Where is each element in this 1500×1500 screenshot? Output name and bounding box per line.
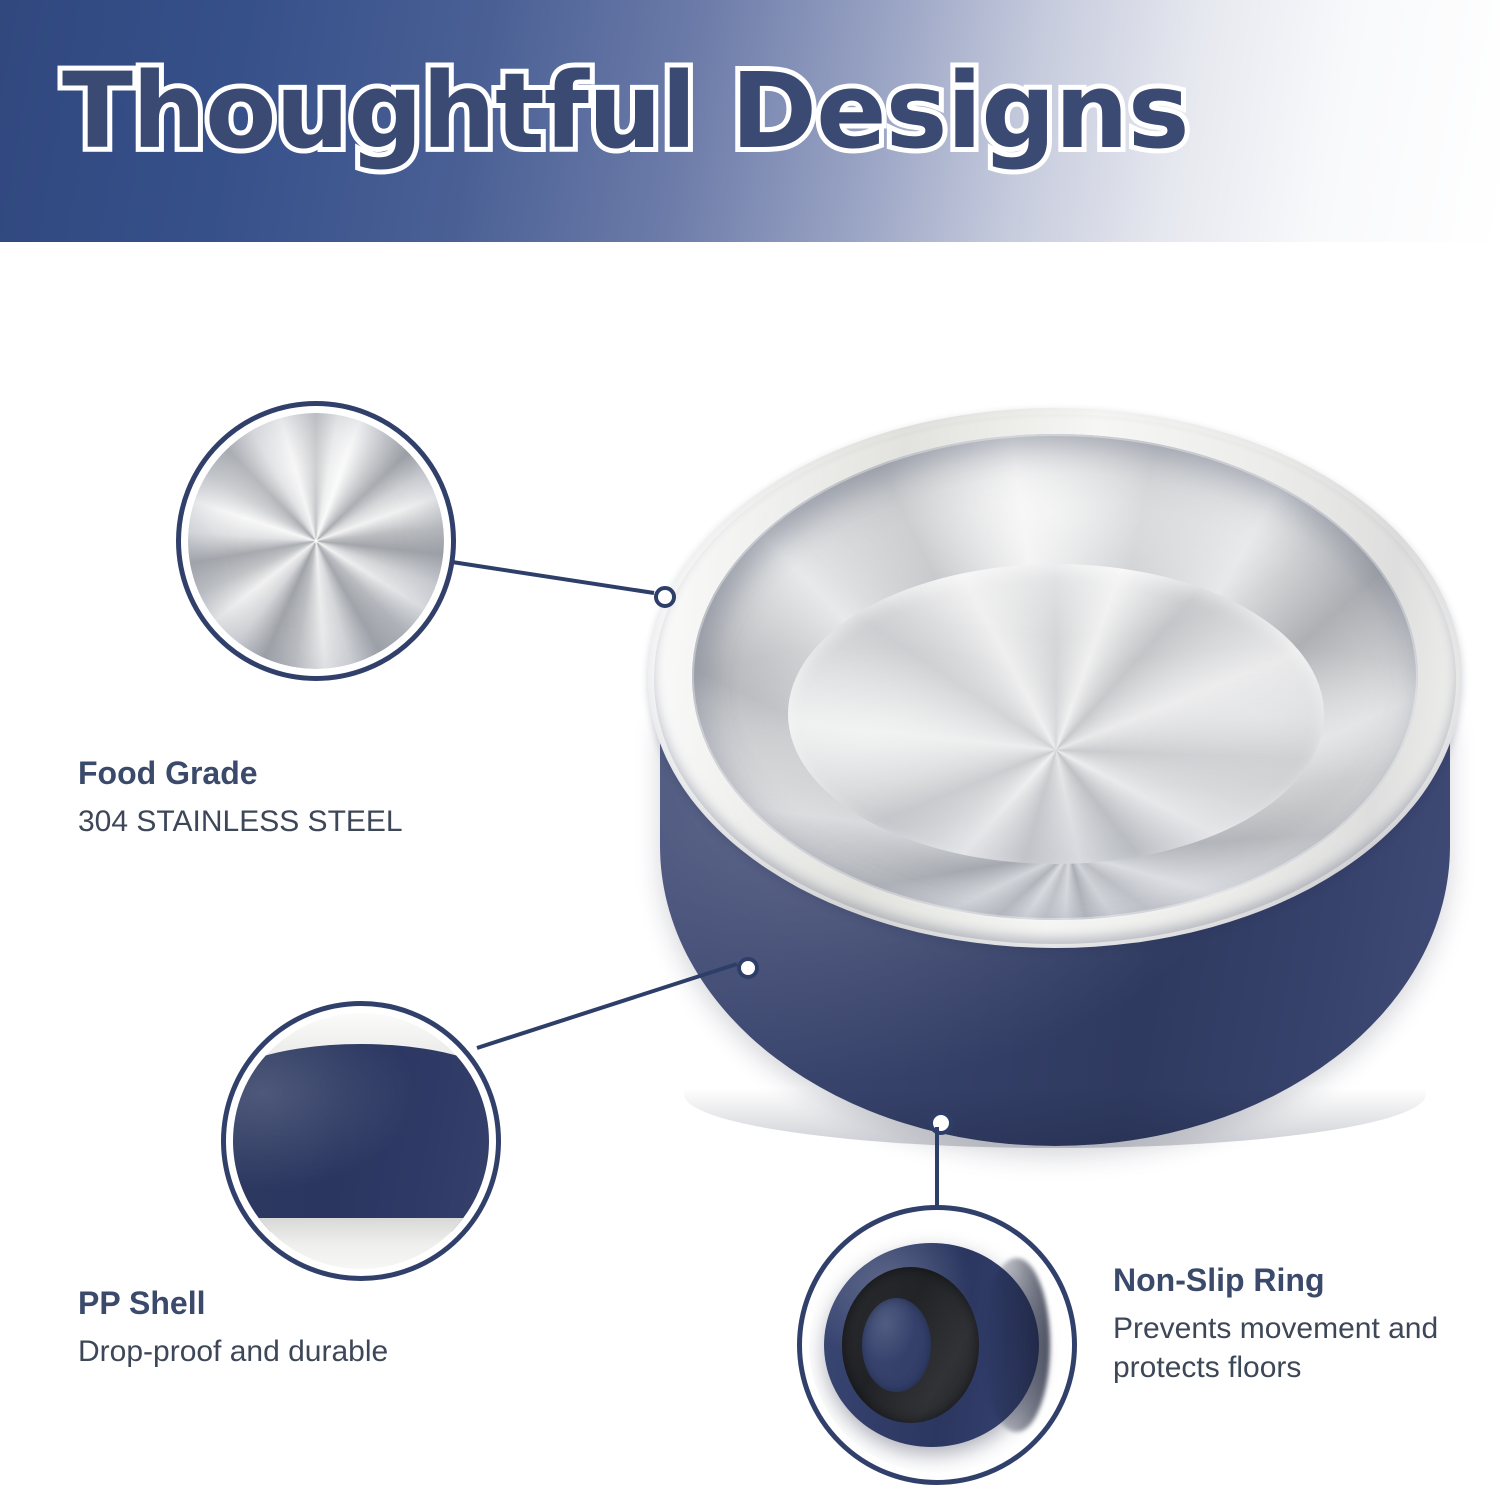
callout-circle-food-grade (176, 401, 456, 681)
bowl-bottom-side-shadow (983, 1258, 1050, 1432)
feature-title-pp-shell: PP Shell (78, 1285, 388, 1322)
anchor-dot-pp-shell (737, 957, 759, 979)
shell-bottom-steel-band (233, 1218, 489, 1269)
product-bowl-image (640, 400, 1470, 1160)
callout-art-pp-shell (233, 1013, 489, 1269)
page-title: Thoughtful Designs (62, 52, 1189, 172)
label-food-grade: Food Grade 304 STAINLESS STEEL (78, 755, 403, 841)
feature-desc-non-slip-ring: Prevents movement and protects floors (1113, 1309, 1438, 1388)
brushed-steel-disc-icon (188, 413, 444, 669)
feature-desc-line: Prevents movement and (1113, 1309, 1438, 1349)
infographic-canvas: Thoughtful Designs Food Grade 304 STAINL… (0, 0, 1500, 1500)
callout-circle-non-slip-ring (797, 1205, 1077, 1485)
callout-art-non-slip-ring (809, 1217, 1065, 1473)
label-pp-shell: PP Shell Drop-proof and durable (78, 1285, 388, 1371)
feature-title-non-slip-ring: Non-Slip Ring (1113, 1262, 1438, 1299)
feature-desc-line: protects floors (1113, 1348, 1438, 1388)
feature-desc-pp-shell: Drop-proof and durable (78, 1332, 388, 1372)
label-non-slip-ring: Non-Slip Ring Prevents movement and prot… (1113, 1262, 1438, 1388)
bowl-stainless-interior (692, 434, 1418, 920)
feature-desc-line: Drop-proof and durable (78, 1332, 388, 1372)
feature-desc-line: 304 STAINLESS STEEL (78, 802, 403, 842)
bowl-interior-wall-shading (692, 434, 1418, 920)
feature-title-food-grade: Food Grade (78, 755, 403, 792)
header-banner: Thoughtful Designs (0, 0, 1500, 242)
callout-circle-pp-shell (221, 1001, 501, 1281)
feature-desc-food-grade: 304 STAINLESS STEEL (78, 802, 403, 842)
bowl-bottom-center (862, 1298, 931, 1391)
rubber-ring (842, 1267, 980, 1423)
callout-art-food-grade (188, 413, 444, 669)
anchor-dot-food-grade (654, 586, 676, 608)
anchor-dot-non-slip-ring (929, 1111, 953, 1135)
